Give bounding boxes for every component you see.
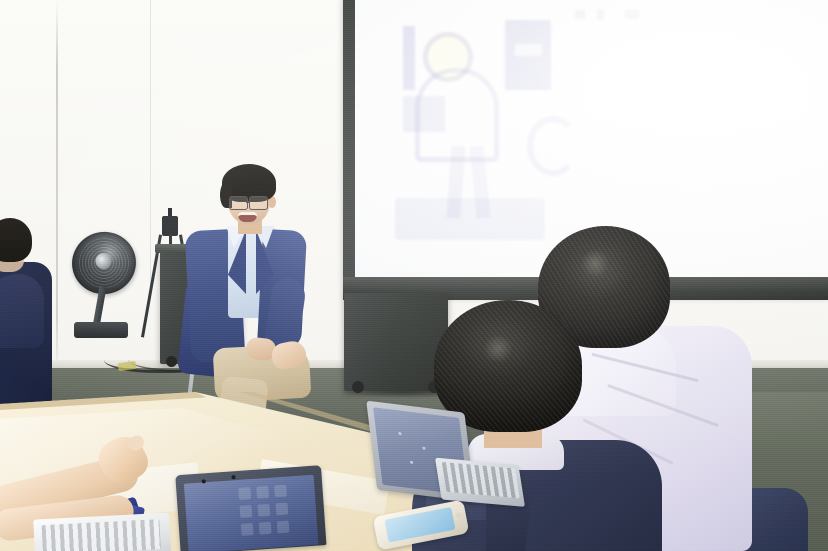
presenter (176, 160, 326, 410)
laptop-dark-screen[interactable] (184, 475, 319, 551)
glasses-icon (229, 196, 248, 210)
laptop-white-keyboard[interactable] (42, 519, 161, 551)
presenter-smile (238, 212, 257, 222)
meeting-room-photo (0, 0, 828, 551)
attendee-left-hair (0, 218, 32, 262)
laptop-dark[interactable] (175, 465, 330, 551)
laptop-white[interactable] (33, 504, 175, 551)
